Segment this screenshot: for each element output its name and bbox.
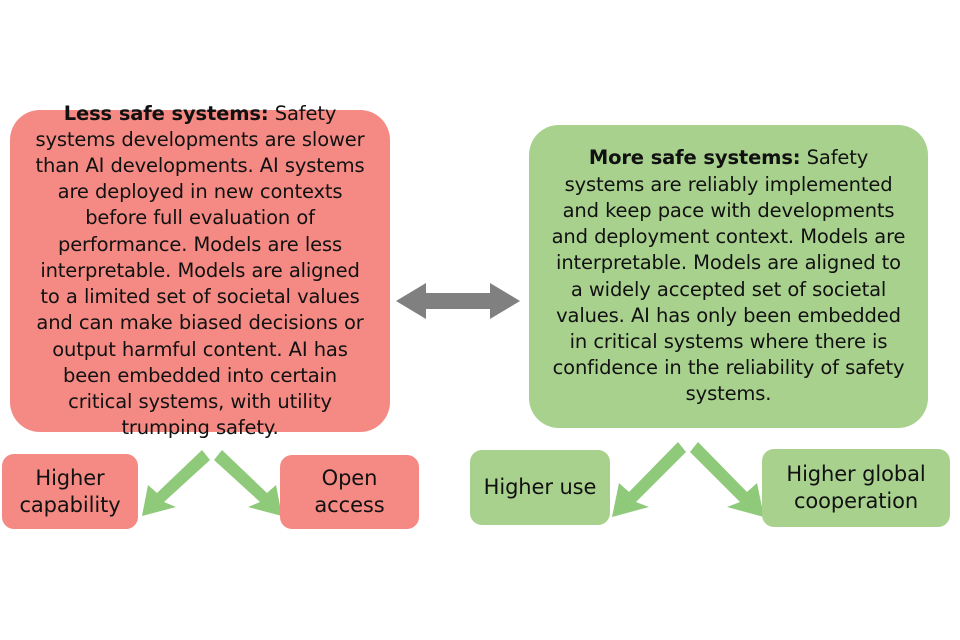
- right-diverging-arrows-icon: [608, 440, 768, 520]
- less-safe-systems-text: Less safe systems: Safety systems develo…: [30, 101, 370, 442]
- less-safe-systems-heading: Less safe systems:: [64, 102, 269, 125]
- double-headed-arrow-icon: [396, 278, 520, 324]
- outcome-open-access-label: Open access: [290, 465, 409, 519]
- outcome-higher-global-cooperation-box[interactable]: Higher global cooperation: [762, 449, 950, 527]
- less-safe-systems-box[interactable]: Less safe systems: Safety systems develo…: [10, 110, 390, 432]
- outcome-higher-use-label: Higher use: [480, 474, 600, 501]
- outcome-higher-use-box[interactable]: Higher use: [470, 450, 610, 525]
- more-safe-systems-text: More safe systems: Safety systems are re…: [549, 145, 908, 407]
- more-safe-systems-box[interactable]: More safe systems: Safety systems are re…: [529, 125, 928, 428]
- less-safe-systems-body: Safety systems developments are slower t…: [35, 102, 364, 440]
- outcome-higher-global-cooperation-label: Higher global cooperation: [772, 461, 940, 515]
- more-safe-systems-body: Safety systems are reliably implemented …: [552, 146, 906, 405]
- diagram-canvas: Less safe systems: Safety systems develo…: [0, 0, 960, 640]
- more-safe-systems-heading: More safe systems:: [589, 146, 801, 169]
- outcome-higher-capability-label: Higher capability: [12, 465, 128, 519]
- outcome-higher-capability-box[interactable]: Higher capability: [2, 454, 138, 529]
- left-diverging-arrows-icon: [140, 448, 284, 520]
- outcome-open-access-box[interactable]: Open access: [280, 455, 419, 529]
